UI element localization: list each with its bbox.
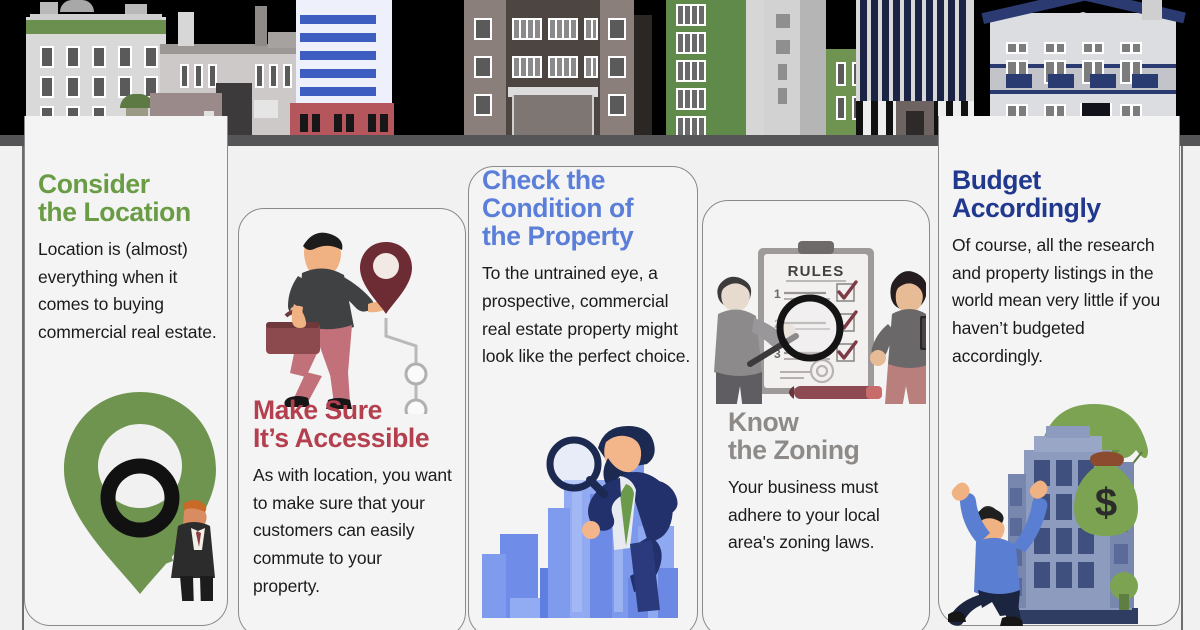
tower-stripe — [300, 51, 376, 60]
building-slim-dark — [634, 15, 652, 135]
window-bank — [676, 60, 706, 82]
title-line-1: Budget — [952, 165, 1041, 195]
window — [836, 96, 846, 120]
window — [194, 64, 203, 88]
rooftop-vent-b — [125, 4, 147, 14]
building-green-roof-band — [26, 20, 166, 34]
green-apartment-side — [746, 0, 764, 135]
body-make-sure-accessible: As with location, you want to make sure … — [253, 462, 453, 600]
body-check-condition: To the untrained eye, a prospective, com… — [482, 260, 692, 371]
building-green-roof-cap — [30, 14, 162, 20]
window — [778, 88, 787, 104]
column-know-zoning: Know the Zoning Your business must adher… — [728, 408, 918, 557]
window — [380, 114, 388, 132]
window-bank — [676, 32, 706, 54]
dollar-symbol: $ — [1095, 481, 1117, 525]
band-window — [1006, 74, 1032, 88]
window-pair — [1120, 42, 1142, 54]
window — [269, 64, 278, 88]
pencil — [789, 386, 882, 399]
window-bank — [584, 56, 598, 78]
body-consider-location: Location is (almost) everything when it … — [38, 236, 223, 347]
window — [776, 14, 790, 28]
rule-number-1: 1 — [774, 287, 781, 301]
title-line-1: Make Sure — [253, 395, 382, 425]
window — [40, 76, 54, 98]
budget-illustration: $ — [948, 398, 1183, 626]
grey-slab-shadow — [800, 0, 826, 135]
tips-board: RULES 1 2 3 — [0, 146, 1200, 630]
map-pin-illustration — [52, 386, 232, 601]
page-title-know-zoning: Know the Zoning — [728, 408, 918, 464]
rooftop-dome — [60, 0, 94, 12]
tower-stripe — [300, 15, 376, 24]
window-bank — [548, 18, 578, 40]
window-bank — [512, 18, 542, 40]
column-budget-accordingly: Budget Accordingly Of course, all the re… — [952, 166, 1174, 370]
title-line-2: the Zoning — [728, 435, 859, 465]
title-line-1: Consider — [38, 169, 150, 199]
column-make-sure-accessible: Make Sure It’s Accessible As with locati… — [253, 396, 453, 600]
page-title-make-sure-accessible: Make Sure It’s Accessible — [253, 396, 453, 452]
window — [40, 46, 54, 68]
band-window — [1090, 74, 1116, 88]
window — [608, 56, 626, 78]
tower-stripe — [300, 33, 376, 42]
column-consider-location: Consider the Location Location is (almos… — [38, 170, 223, 347]
window-pair — [1044, 42, 1066, 54]
tower-stripe — [300, 69, 376, 78]
window — [778, 64, 787, 80]
window — [66, 46, 80, 68]
tower-stripe — [300, 87, 376, 96]
window — [144, 46, 158, 68]
window-pair — [1082, 42, 1104, 54]
window — [836, 62, 846, 86]
column-check-condition: Check the Condition of the Property To t… — [482, 166, 692, 371]
civic-chimney — [1142, 0, 1162, 20]
annex-window-grid — [254, 100, 278, 118]
band-window — [1132, 74, 1158, 88]
body-know-zoning: Your business must adhere to your local … — [728, 474, 918, 557]
chimney-a — [178, 12, 194, 46]
page-title-budget-accordingly: Budget Accordingly — [952, 166, 1174, 222]
window — [66, 76, 80, 98]
window — [346, 114, 354, 132]
navy-grid-windows — [860, 0, 970, 104]
window — [312, 114, 320, 132]
window — [776, 40, 790, 54]
page-title-check-condition: Check the Condition of the Property — [482, 166, 692, 250]
window — [474, 56, 492, 78]
window — [300, 114, 308, 132]
clipboard-heading: RULES — [788, 263, 845, 280]
window — [474, 94, 492, 116]
window-bank — [512, 56, 542, 78]
tower-door — [906, 111, 924, 135]
window — [118, 46, 132, 68]
window-bank — [584, 18, 598, 40]
title-line-1: Check the — [482, 165, 605, 195]
title-line-2: It’s Accessible — [253, 423, 429, 453]
window — [368, 114, 376, 132]
window-bank — [548, 56, 578, 78]
title-line-3: the Property — [482, 221, 633, 251]
window — [283, 64, 292, 88]
window — [92, 46, 106, 68]
window-pair — [1006, 42, 1028, 54]
title-line-2: the Location — [38, 197, 191, 227]
window — [334, 114, 342, 132]
window — [474, 18, 492, 40]
entrance-glass — [512, 95, 594, 135]
woman-with-folder — [870, 271, 926, 404]
chimney-b — [255, 6, 267, 46]
title-line-2: Accordingly — [952, 193, 1101, 223]
condition-inspection-illustration — [478, 418, 688, 618]
rules-clipboard-illustration: RULES 1 2 3 — [706, 240, 926, 404]
rooftop-vent-a — [40, 2, 58, 14]
band-window — [1048, 74, 1074, 88]
window — [608, 94, 626, 116]
window — [92, 76, 106, 98]
route-path — [360, 242, 426, 414]
window — [180, 64, 189, 88]
page-title-consider-location: Consider the Location — [38, 170, 223, 226]
title-line-1: Know — [728, 407, 799, 437]
title-line-2: Condition of — [482, 193, 633, 223]
window-bank — [676, 4, 706, 26]
accessible-route-illustration — [258, 218, 448, 414]
window — [255, 64, 264, 88]
window — [608, 18, 626, 40]
body-budget-accordingly: Of course, all the research and property… — [952, 232, 1174, 370]
window-bank — [676, 88, 706, 110]
